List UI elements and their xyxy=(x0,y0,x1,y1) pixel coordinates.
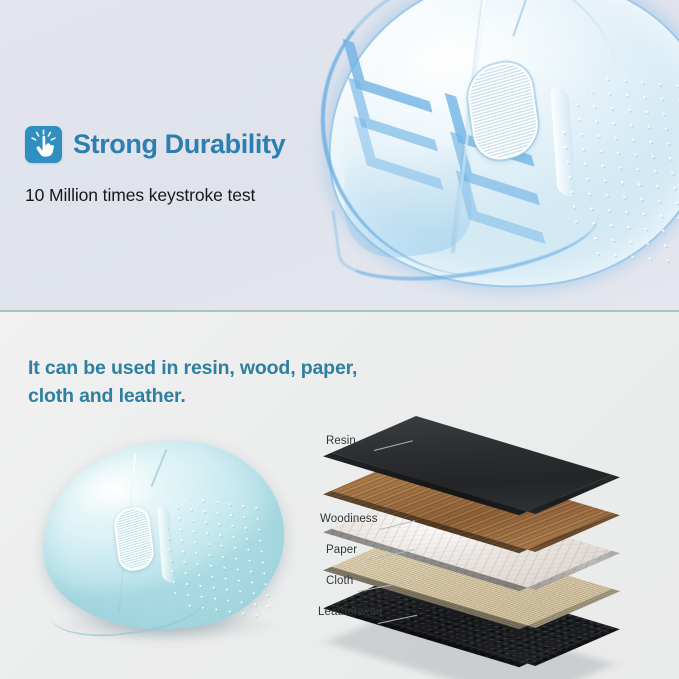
material-stack: Resin Woodiness Paper Cloth Leatherwear xyxy=(318,408,679,648)
mouse-closeup-image xyxy=(318,0,679,311)
material-label-woodiness: Woodiness xyxy=(320,513,378,525)
mouse-full-image xyxy=(30,440,310,658)
material-label-resin: Resin xyxy=(326,435,356,447)
product-feature-page: Strong Durability 10 Million times keyst… xyxy=(0,0,679,679)
materials-headline-line1: It can be used in resin, wood, paper, xyxy=(28,355,357,383)
click-hand-icon xyxy=(25,126,62,163)
material-label-leatherwear: Leatherwear xyxy=(318,606,383,618)
heading-row: Strong Durability xyxy=(25,126,285,163)
top-feature-panel: Strong Durability 10 Million times keyst… xyxy=(0,0,679,311)
feature-subtitle: 10 Million times keystroke test xyxy=(25,185,285,206)
material-label-paper: Paper xyxy=(326,544,357,556)
material-label-cloth: Cloth xyxy=(326,575,353,587)
top-text-block: Strong Durability 10 Million times keyst… xyxy=(25,126,285,206)
materials-headline: It can be used in resin, wood, paper, cl… xyxy=(28,355,357,410)
materials-headline-line2: cloth and leather. xyxy=(28,383,357,411)
page-title: Strong Durability xyxy=(73,131,285,158)
